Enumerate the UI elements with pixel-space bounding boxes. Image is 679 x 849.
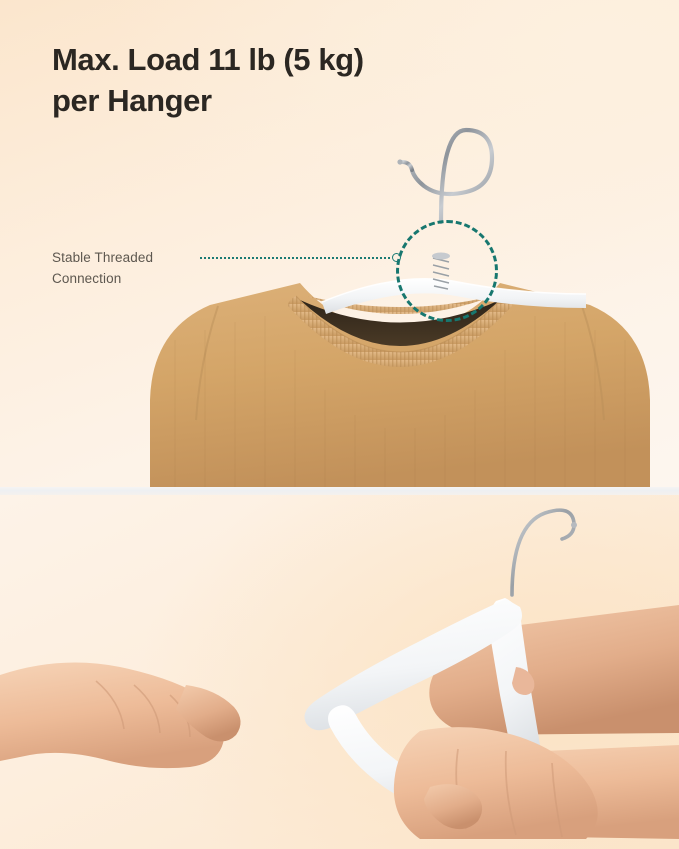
annotation-label: Stable Threaded Connection bbox=[52, 248, 202, 290]
annotation-endpoint-icon bbox=[392, 253, 401, 262]
hands-flexing-hanger-illustration bbox=[0, 495, 679, 849]
product-feature-image: Max. Load 11 lb (5 kg) per Hanger Stable… bbox=[0, 0, 679, 849]
panel-max-load: Max. Load 11 lb (5 kg) per Hanger Stable… bbox=[0, 0, 679, 487]
panel-divider bbox=[0, 487, 679, 495]
annotation-line-1: Stable Threaded bbox=[52, 248, 202, 269]
annotation-leader-line bbox=[200, 257, 390, 259]
annotation-line-2: Connection bbox=[52, 269, 202, 290]
highlight-circle-threaded-connection bbox=[396, 220, 498, 322]
headline-line-1: Max. Load 11 lb (5 kg) bbox=[52, 40, 482, 81]
panel-quality-materials: Quality Materials Sturdy ABS plastic and… bbox=[0, 495, 679, 849]
headline-line-2: per Hanger bbox=[52, 81, 482, 122]
page-title: Max. Load 11 lb (5 kg) per Hanger bbox=[52, 40, 482, 122]
